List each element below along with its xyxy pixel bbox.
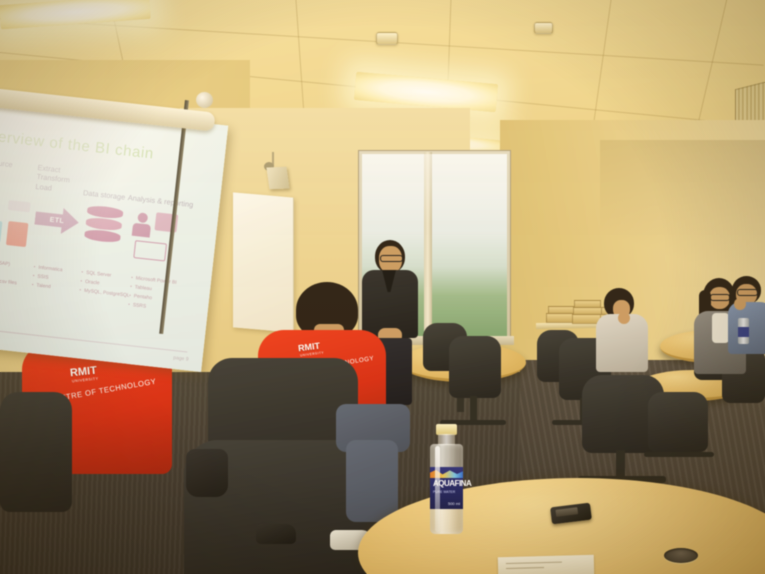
wall-speaker: [266, 167, 289, 189]
recessed-light-icon: [534, 22, 553, 34]
bottle-label-back: [738, 327, 749, 337]
glasses-icon: [710, 294, 730, 301]
hand: [734, 298, 746, 310]
office-chair: [0, 392, 72, 512]
paper-card: [498, 555, 594, 574]
slide-bullet: Talend: [31, 281, 61, 293]
jeans: [346, 440, 398, 522]
office-chair: [449, 336, 501, 398]
backpack: [186, 449, 228, 497]
shoe: [256, 524, 296, 544]
student-back-1: [596, 288, 650, 372]
inner-top: [712, 313, 729, 343]
recessed-light-icon: [376, 32, 398, 45]
glasses-icon: [737, 289, 758, 296]
cable-grommet: [664, 548, 698, 563]
bottle-highlight: [435, 446, 440, 532]
chair-base: [644, 452, 714, 457]
glasses-icon: [380, 255, 403, 262]
projection-screen: Overview of the BI chain Data source Ext…: [0, 96, 228, 372]
hand: [618, 312, 630, 324]
phone-screen: [555, 507, 578, 517]
classroom-photo: Overview of the BI chain Data source Ext…: [0, 0, 765, 574]
window-reflection: [362, 154, 507, 224]
ceiling-panel-light: [0, 0, 151, 29]
slide-page-number: page 9: [173, 355, 189, 363]
ceiling-panel-light: [354, 72, 498, 112]
water-bottle-back: [738, 318, 749, 344]
office-chair: [648, 392, 708, 452]
bottle-volume: 500 ml: [448, 501, 460, 506]
water-bottle: AQUAFINA PURE WATER 500 ml: [428, 424, 465, 534]
stacked-box: [546, 313, 575, 323]
